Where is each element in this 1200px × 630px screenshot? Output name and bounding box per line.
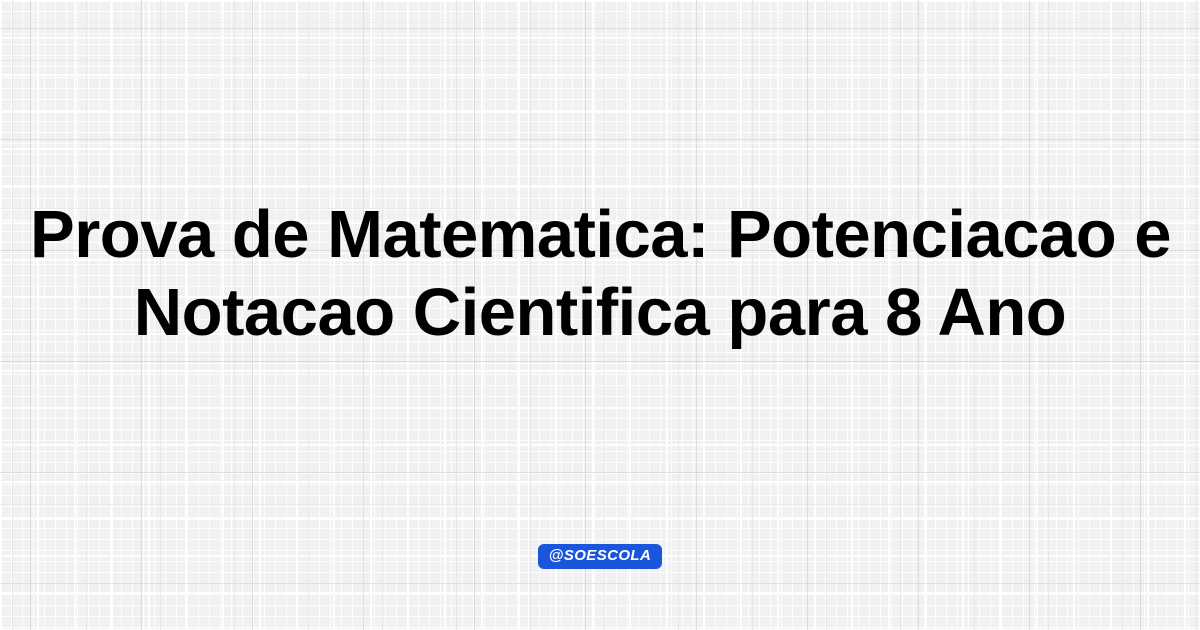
page-title: Prova de Matematica: Potenciacao e Notac… [0,196,1200,352]
page-title-line-2: Notacao Cientifica para 8 Ano [30,274,1170,352]
page-title-line-1: Prova de Matematica: Potenciacao e [30,196,1170,274]
brand-handle-badge[interactable]: @SOESCOLA [538,544,662,569]
title-card: Prova de Matematica: Potenciacao e Notac… [0,0,1200,630]
badge-row: @SOESCOLA [0,544,1200,569]
